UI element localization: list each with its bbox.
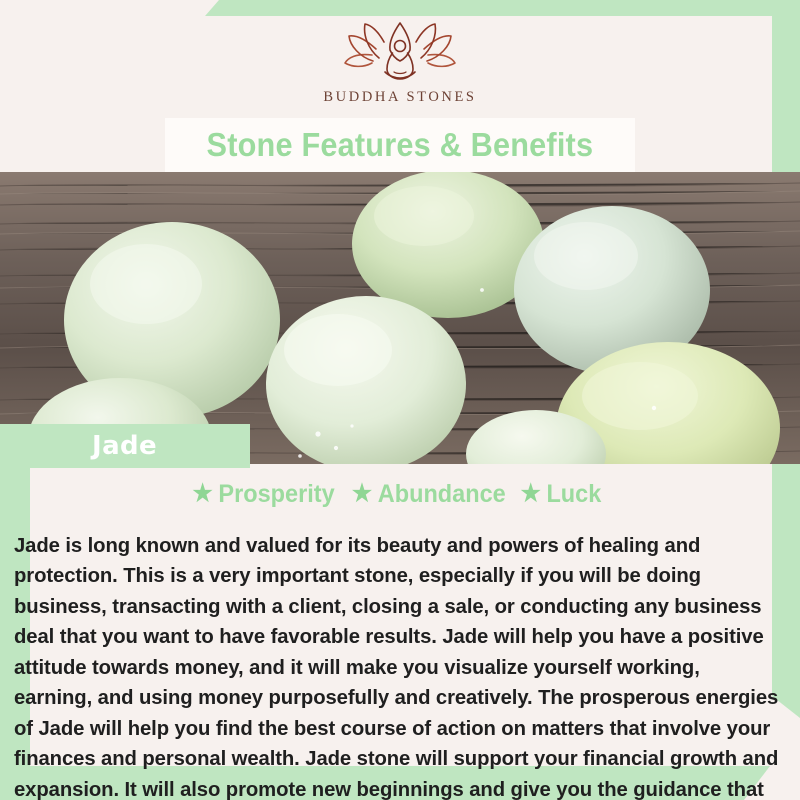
infographic-card: BUDDHA STONES Stone Features & Benefits [0,0,800,800]
brand-wordmark: BUDDHA STONES [323,89,476,106]
benefit-item-abundance: ★ Abundance [352,480,506,509]
benefit-item-luck: ★ Luck [521,480,602,509]
title-banner: Stone Features & Benefits [165,118,635,172]
stone-photo [0,172,800,464]
stone-name-band: Jade [0,424,250,468]
benefit-label: Abundance [378,480,506,509]
page-title: Stone Features & Benefits [207,126,594,164]
star-icon: ★ [192,482,212,506]
stone-description: Jade is long known and valued for its be… [14,531,778,800]
benefit-label: Prosperity [218,480,334,509]
brand-header: BUDDHA STONES [0,0,800,118]
benefit-label: Luck [547,480,602,509]
lotus-meditation-icon [341,20,459,82]
star-icon: ★ [352,482,372,506]
benefit-item-prosperity: ★ Prosperity [192,480,334,509]
stone-name: Jade [92,431,157,461]
benefits-row: ★ Prosperity ★ Abundance ★ Luck [0,478,800,510]
star-icon: ★ [521,482,541,506]
